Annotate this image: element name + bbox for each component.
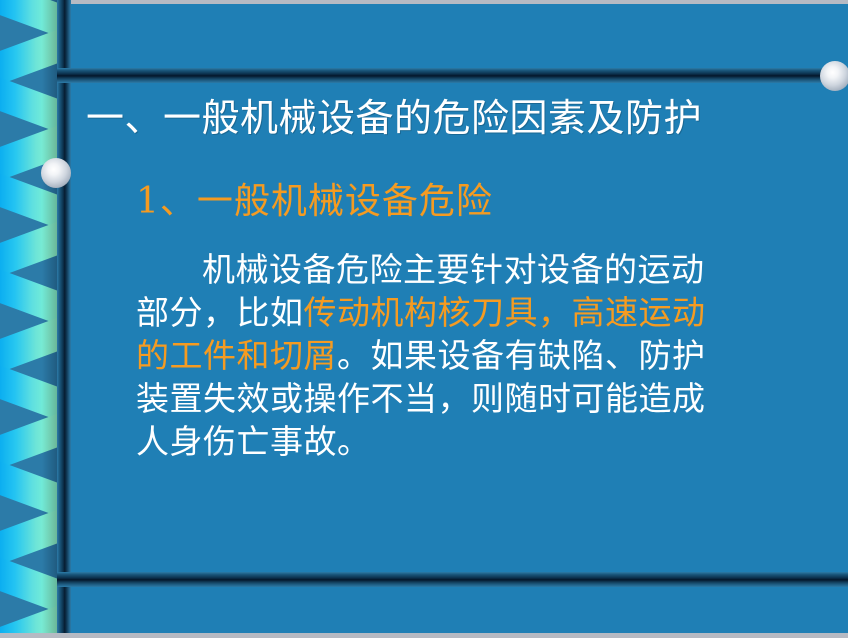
vertical-rail: [57, 0, 71, 638]
right-glow-knob-icon: [820, 61, 848, 91]
slide-canvas: 一、一般机械设备的危险因素及防护 1、一般机械设备危险 机械设备危险主要针对设备…: [0, 0, 848, 638]
slide-heading: 一、一般机械设备的危险因素及防护: [86, 96, 841, 141]
ribbon-band: [0, 556, 58, 614]
body-line-5: 人身伤亡事故。: [136, 420, 826, 463]
ribbon-band: [0, 220, 58, 278]
ribbon-band: [0, 508, 58, 566]
body-line-3-highlight: 的工件和切屑: [136, 336, 337, 375]
slide-bottom-edge: [0, 633, 848, 638]
ribbon-decoration: [0, 0, 58, 638]
body-line-1: 机械设备危险主要针对设备的运动: [136, 248, 826, 291]
ribbon-band: [0, 460, 58, 518]
ribbon-band: [0, 316, 58, 374]
ribbon-band: [0, 76, 58, 134]
body-line-2-highlight: 传动机构核刀具，高速运动: [304, 293, 706, 332]
top-horizontal-rail: [57, 68, 848, 83]
slide-body-text: 机械设备危险主要针对设备的运动 部分，比如传动机构核刀具，高速运动 的工件和切屑…: [136, 248, 826, 463]
body-line-2: 部分，比如传动机构核刀具，高速运动: [136, 291, 826, 334]
body-line-2-plain: 部分，比如: [136, 293, 304, 332]
left-glow-knob-icon: [41, 158, 71, 188]
bottom-horizontal-rail: [57, 572, 848, 587]
ribbon-band: [0, 28, 58, 86]
ribbon-band: [0, 364, 58, 422]
slide-subheading: 1、一般机械设备危险: [136, 180, 493, 223]
body-line-4: 装置失效或操作不当，则随时可能造成: [136, 377, 826, 420]
ribbon-band: [0, 0, 58, 38]
ribbon-band: [0, 268, 58, 326]
body-line-3-plain: 。如果设备有缺陷、防护: [337, 336, 706, 375]
slide-top-edge: [0, 0, 848, 4]
body-line-1-text: 机械设备危险主要针对设备的运动: [202, 250, 705, 289]
ribbon-band: [0, 412, 58, 470]
body-line-3: 的工件和切屑。如果设备有缺陷、防护: [136, 334, 826, 377]
